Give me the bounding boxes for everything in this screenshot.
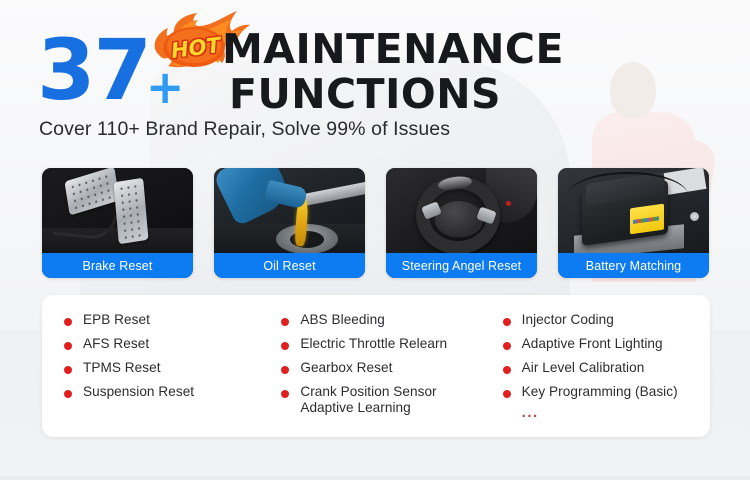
feature-card-oil-reset[interactable]: Oil Reset — [214, 168, 365, 278]
oil-pouring-photo — [214, 168, 365, 254]
feature-card-brake-reset[interactable]: Brake Reset — [42, 168, 193, 278]
car-battery-photo — [558, 168, 709, 254]
list-item-label: TPMS Reset — [83, 360, 161, 376]
feature-card-steering-angel-reset[interactable]: Steering Angel Reset — [386, 168, 537, 278]
accelerator-pedal — [113, 178, 148, 245]
page-title-line-2: FUNCTIONS — [222, 72, 508, 117]
functions-column-2: ABS Bleeding Electric Throttle Relearn G… — [271, 312, 488, 437]
brake-pedals-photo — [42, 168, 193, 254]
bullet-icon — [281, 342, 289, 350]
functions-column-3: Injector Coding Adaptive Front Lighting … — [489, 312, 710, 437]
page-title: MAINTENANCE FUNCTIONS — [222, 27, 742, 117]
list-item[interactable]: Injector Coding — [503, 312, 710, 328]
list-item-label: Electric Throttle Relearn — [300, 336, 447, 352]
page-subtitle: Cover 110+ Brand Repair, Solve 99% of Is… — [39, 118, 450, 141]
feature-card-label[interactable]: Brake Reset — [42, 253, 193, 278]
steering-wheel-photo — [386, 168, 537, 254]
list-item-label: AFS Reset — [83, 336, 149, 352]
battery-label — [630, 204, 664, 235]
bullet-icon — [64, 366, 72, 374]
bullet-icon — [64, 318, 72, 326]
list-item-label: EPB Reset — [83, 312, 150, 328]
list-item[interactable]: Crank Position Sensor Adaptive Learning — [281, 384, 488, 416]
bullet-icon — [281, 366, 289, 374]
bullet-icon — [503, 342, 511, 350]
dashboard-indicator — [506, 201, 511, 206]
functions-list-panel: EPB Reset AFS Reset TPMS Reset Suspensio… — [42, 295, 710, 437]
bullet-icon — [503, 318, 511, 326]
bullet-icon — [281, 318, 289, 326]
background-bottom-strip — [0, 476, 750, 480]
list-item-label: Air Level Calibration — [522, 360, 645, 376]
list-item[interactable]: Adaptive Front Lighting — [503, 336, 710, 352]
list-item-label: Adaptive Front Lighting — [522, 336, 663, 352]
bullet-icon — [64, 342, 72, 350]
bullet-icon — [503, 390, 511, 398]
bullet-icon — [281, 390, 289, 398]
functions-column-1: EPB Reset AFS Reset TPMS Reset Suspensio… — [42, 312, 271, 437]
page-title-line-1: MAINTENANCE — [222, 27, 742, 72]
list-item[interactable]: Suspension Reset — [64, 384, 271, 400]
engine-rail — [298, 181, 365, 207]
list-item-label: Crank Position Sensor Adaptive Learning — [300, 384, 488, 416]
feature-card-battery-matching[interactable]: Battery Matching — [558, 168, 709, 278]
bullet-icon — [64, 390, 72, 398]
list-item-label: ABS Bleeding — [300, 312, 385, 328]
list-item-label: Injector Coding — [522, 312, 614, 328]
header-banner: 37 + HOT MAINTENANCE FUNCTIONS Cover 110… — [0, 0, 750, 160]
list-item[interactable]: Key Programming (Basic) — [503, 384, 710, 400]
list-item[interactable]: ABS Bleeding — [281, 312, 488, 328]
list-item[interactable]: Air Level Calibration — [503, 360, 710, 376]
feature-card-label[interactable]: Oil Reset — [214, 253, 365, 278]
list-item[interactable]: AFS Reset — [64, 336, 271, 352]
pedal-grip-dots — [118, 182, 144, 239]
list-item-label: Gearbox Reset — [300, 360, 392, 376]
list-item[interactable]: EPB Reset — [64, 312, 271, 328]
feature-card-label[interactable]: Steering Angel Reset — [386, 253, 537, 278]
brake-pedal — [64, 168, 119, 216]
bullet-icon — [503, 366, 511, 374]
pedal-grip-dots — [69, 172, 115, 211]
feature-card-label[interactable]: Battery Matching — [558, 253, 709, 278]
steering-wheel-hub — [435, 201, 483, 237]
feature-card-row: Brake Reset Oil Reset Steering Angel Res… — [42, 168, 710, 278]
list-item[interactable]: TPMS Reset — [64, 360, 271, 376]
more-functions-ellipsis: ... — [522, 408, 710, 418]
function-count-number: 37 — [37, 34, 150, 106]
list-item-label: Key Programming (Basic) — [522, 384, 678, 400]
battery-label-stripes — [633, 216, 659, 224]
battery-terminal-bolt — [690, 212, 699, 221]
list-item[interactable]: Electric Throttle Relearn — [281, 336, 488, 352]
list-item[interactable]: Gearbox Reset — [281, 360, 488, 376]
list-item-label: Suspension Reset — [83, 384, 194, 400]
